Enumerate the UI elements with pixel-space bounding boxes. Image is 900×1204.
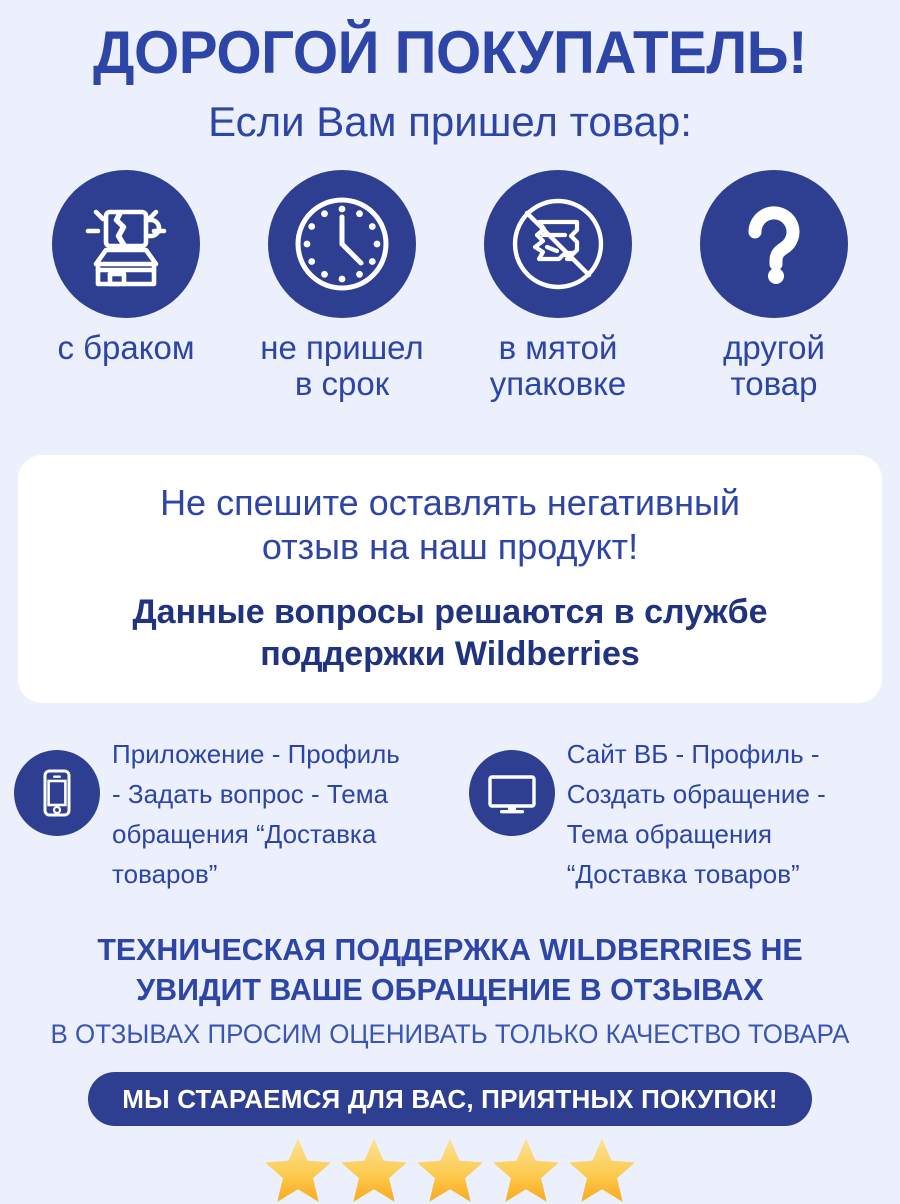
channel-icon-circle — [469, 750, 555, 836]
star-icon-1 — [262, 1136, 334, 1204]
reason-icon-circle — [52, 170, 200, 318]
smartphone-icon — [30, 766, 84, 820]
reason-icon-circle — [268, 170, 416, 318]
reason-item-crumpled: в мятой упаковке — [460, 170, 656, 402]
cta-button[interactable]: МЫ СТАРАЕМСЯ ДЛЯ ВАС, ПРИЯТНЫХ ПОКУПОК! — [88, 1072, 812, 1126]
channel-site: Сайт ВБ - Профиль - Создать обращение - … — [469, 728, 886, 894]
channel-icon-circle — [14, 750, 100, 836]
reason-icon-circle — [484, 170, 632, 318]
clock-icon — [288, 190, 396, 298]
info-card-message: Не спешите оставлять негативный отзыв на… — [18, 455, 882, 569]
info-card: Не спешите оставлять негативный отзыв на… — [18, 455, 882, 703]
question-mark-icon — [722, 192, 826, 296]
reason-item-wrong-product: другой товар — [676, 170, 872, 402]
reason-label: не пришел в срок — [260, 330, 423, 402]
reason-icon-circle — [700, 170, 848, 318]
star-icon-3 — [414, 1136, 486, 1204]
channel-app: Приложение - Профиль - Задать вопрос - Т… — [14, 728, 469, 894]
support-channels: Приложение - Профиль - Задать вопрос - Т… — [0, 728, 900, 894]
info-card-highlight: Данные вопросы решаются в службе поддерж… — [18, 569, 882, 675]
reasons-row: с браком — [0, 146, 900, 402]
notice-strong-text: ТЕХНИЧЕСКАЯ ПОДДЕРЖКА WILDBERRIES НЕ УВИ… — [9, 930, 891, 1010]
reason-label: другой товар — [723, 330, 825, 402]
reason-item-late: не пришел в срок — [244, 170, 440, 402]
channel-app-text: Приложение - Профиль - Задать вопрос - Т… — [112, 728, 400, 894]
monitor-icon — [484, 765, 540, 821]
notice-block: ТЕХНИЧЕСКАЯ ПОДДЕРЖКА WILDBERRIES НЕ УВИ… — [0, 930, 900, 1052]
notice-light-text: В ОТЗЫВАХ ПРОСИМ ОЦЕНИВАТЬ ТОЛЬКО КАЧЕСТ… — [18, 1010, 882, 1052]
no-crumpled-package-icon — [503, 189, 613, 299]
page-subtitle: Если Вам пришел товар: — [0, 84, 900, 146]
channel-site-text: Сайт ВБ - Профиль - Создать обращение - … — [567, 728, 826, 894]
broken-cup-in-box-icon — [74, 192, 178, 296]
star-rating — [0, 1136, 900, 1204]
star-icon-2 — [338, 1136, 410, 1204]
reason-item-defect: с браком — [28, 170, 224, 366]
page-title: ДОРОГОЙ ПОКУПАТЕЛЬ! — [14, 0, 887, 84]
reason-label: с браком — [57, 330, 194, 366]
star-icon-4 — [490, 1136, 562, 1204]
reason-label: в мятой упаковке — [490, 330, 627, 402]
promo-banner: ДОРОГОЙ ПОКУПАТЕЛЬ! Если Вам пришел това… — [0, 0, 900, 1200]
star-icon-5 — [566, 1136, 638, 1204]
